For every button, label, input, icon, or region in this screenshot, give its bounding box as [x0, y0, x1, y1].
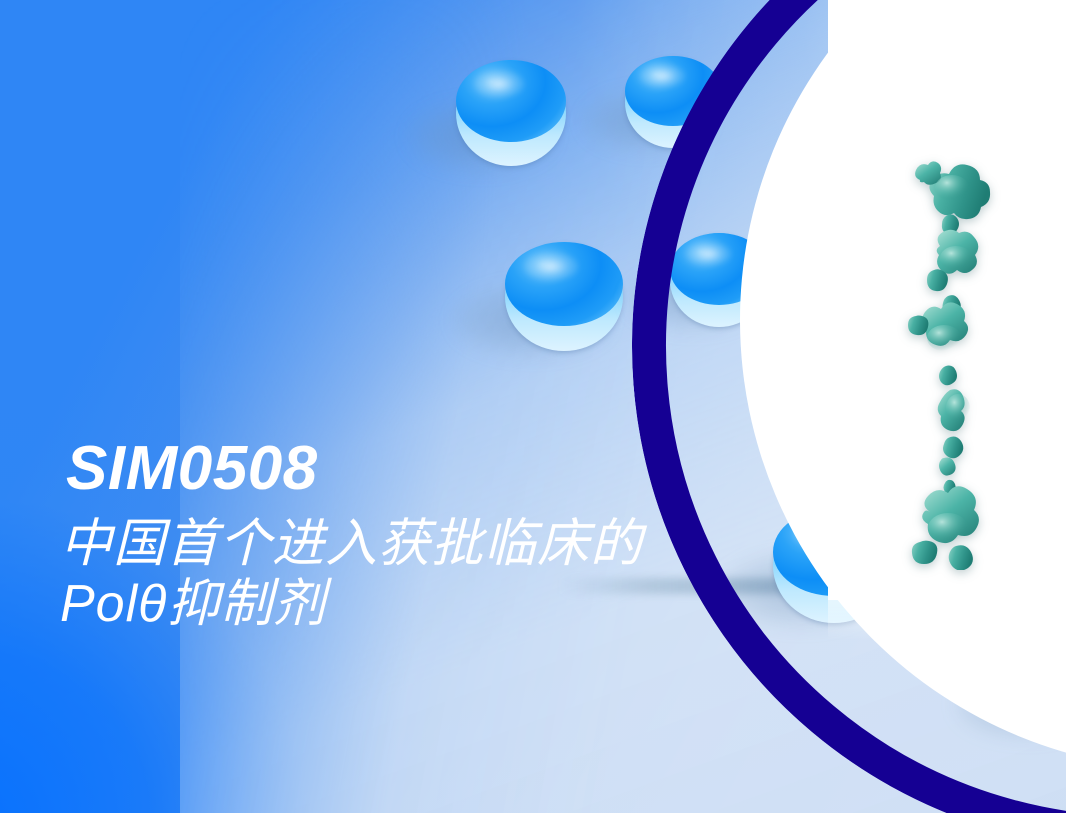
poster-canvas: SIM0508 中国首个进入获批临床的 Polθ抑制剂 [0, 0, 1066, 813]
subtitle-line-2: Polθ抑制剂 [60, 574, 900, 634]
tablet-top-right-highlight [640, 64, 684, 88]
subtitle-line-1: 中国首个进入获批临床的 [60, 514, 900, 574]
product-name-title: SIM0508 [66, 438, 900, 500]
tablet-top-left [456, 60, 566, 166]
headline-block: SIM0508 中国首个进入获批临床的 Polθ抑制剂 [60, 438, 900, 635]
tablet-mid-left [505, 242, 623, 351]
tablet-top-left-highlight [474, 70, 525, 98]
polymerase-theta-protein-structure [890, 150, 1020, 570]
tablet-mid-left-highlight [524, 252, 578, 281]
